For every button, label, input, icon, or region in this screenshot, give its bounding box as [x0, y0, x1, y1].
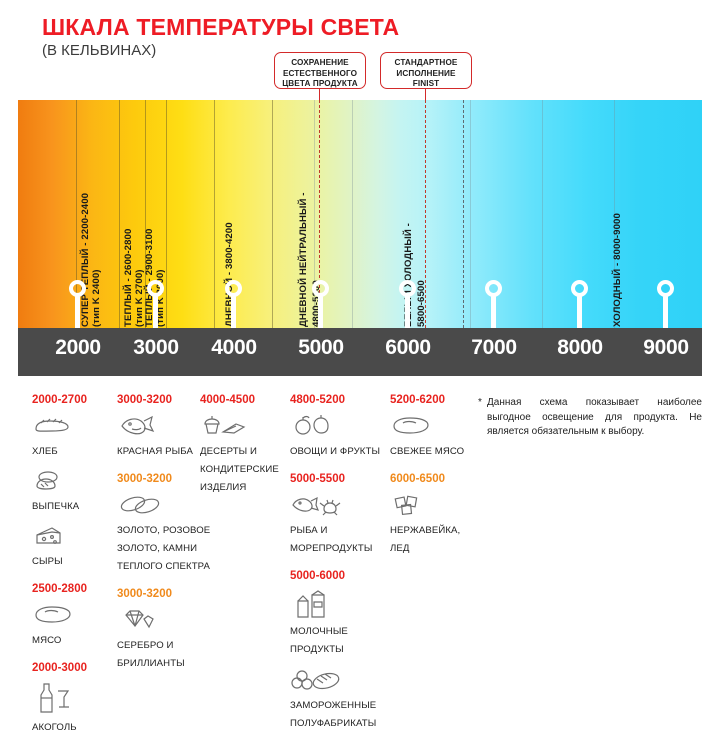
meat-icon	[32, 602, 114, 628]
scale-tick-7000: 7000	[459, 336, 529, 360]
legend-group: 6000-6500 НЕРЖАВЕЙКА, ЛЕД	[390, 471, 470, 556]
vegetables-fruits-icon	[290, 413, 385, 439]
scale-tick-6000: 6000	[373, 336, 443, 360]
scale-tick-3000: 3000	[121, 336, 191, 360]
pin-stem-9000	[663, 296, 668, 330]
pin-stem-5000	[318, 296, 323, 330]
legend-range-label: 2000-3000	[32, 660, 114, 676]
legend-item: НЕРЖАВЕЙКА, ЛЕД	[390, 492, 470, 556]
pin-stem-8000	[577, 296, 582, 330]
legend-item-label: ЗАМОРОЖЕННЫЕ ПОЛУФАБРИКАТЫ	[290, 700, 376, 729]
footnote: * Данная схема показывает наиболее выгод…	[487, 396, 702, 440]
pin-stem-2000	[75, 296, 80, 330]
kelvin-scale-bar: 2000 3000 4000 5000 6000 7000 8000 9000	[18, 328, 702, 376]
callout-line: ИСПОЛНЕНИЕ	[387, 69, 465, 80]
pin-head-3000[interactable]	[147, 280, 164, 297]
band-label-warm-2700: ТЕПЛЫЙ - 2600-2800	[123, 229, 134, 327]
dessert-icon	[200, 413, 292, 439]
legend-column-3: 4000-4500 ДЕСЕРТЫ И КОНДИТЕРСКИЕ ИЗДЕЛИЯ	[200, 392, 292, 504]
legend-range-label: 6000-6500	[390, 471, 470, 487]
legend-group: 5000-5500 РЫБА И МОРЕПРОДУКТЫ	[290, 471, 385, 556]
gold-rings-icon	[117, 492, 212, 518]
legend-group: 3000-3200 СЕРЕБРО И БРИЛЛИАНТЫ	[117, 586, 212, 671]
legend-item-label: АКОГОЛЬ	[32, 722, 77, 733]
legend-item: ХЛЕБ	[32, 413, 114, 459]
pin-stem-4000	[231, 296, 236, 330]
legend-group: 3000-3200 КРАСНАЯ РЫБА	[117, 392, 212, 459]
legend-column-2: 3000-3200 КРАСНАЯ РЫБА 3000-3200	[117, 392, 212, 680]
band-label-cold: ХОЛОДНЫЙ - 8000-9000	[612, 213, 623, 327]
callout-natural-color: СОХРАНЕНИЕ ЕСТЕСТВЕННОГО ЦВЕТА ПРОДУКТА	[274, 52, 366, 89]
legend-item-label: ДЕСЕРТЫ И КОНДИТЕРСКИЕ ИЗДЕЛИЯ	[200, 446, 279, 493]
legend-item-label: ХЛЕБ	[32, 446, 58, 457]
legend-group: 4000-4500 ДЕСЕРТЫ И КОНДИТЕРСКИЕ ИЗДЕЛИЯ	[200, 392, 292, 495]
pin-head-8000[interactable]	[571, 280, 588, 297]
pin-head-2000[interactable]	[69, 280, 86, 297]
legend-item-label: ОВОЩИ И ФРУКТЫ	[290, 446, 380, 457]
legend-range-label: 2000-2700	[32, 392, 114, 408]
legend-range-label: 5000-5500	[290, 471, 385, 487]
legend-item-label: КРАСНАЯ РЫБА	[117, 446, 193, 457]
band-label-neutral: ДНЕВНОЙ НЕЙТРАЛЬНЫЙ -	[298, 192, 309, 327]
legend-range-label: 5200-6200	[390, 392, 470, 408]
band-label-super-warm: СУПЕР ТЕПЛЫЙ - 2200-2400	[80, 193, 91, 327]
spectrum-gradient	[18, 100, 702, 328]
legend-item: СЕРЕБРО И БРИЛЛИАНТЫ	[117, 607, 212, 671]
scale-tick-2000: 2000	[43, 336, 113, 360]
band-sublabel-super-warm: (тип K 2400)	[91, 269, 102, 327]
legend-item: СЫРЫ	[32, 523, 114, 569]
callout-line: ЦВЕТА ПРОДУКТА	[281, 79, 359, 90]
bread-icon	[32, 413, 114, 439]
legend-column-5: 5200-6200 СВЕЖЕЕ МЯСО 6000-6500 Н	[390, 392, 470, 565]
legend-item-label: СЕРЕБРО И БРИЛЛИАНТЫ	[117, 640, 185, 669]
legend-item-label: МЯСО	[32, 635, 62, 646]
legend-group: 4800-5200 ОВОЩИ И ФРУКТЫ	[290, 392, 385, 459]
band-separator	[470, 100, 471, 328]
callout-line: СТАНДАРТНОЕ	[387, 58, 465, 69]
legend-range-label: 5000-6000	[290, 568, 385, 584]
legend-item-label: СЫРЫ	[32, 556, 63, 567]
frozen-food-icon	[290, 667, 385, 693]
band-separator	[352, 100, 353, 328]
diamond-icon	[117, 607, 212, 633]
legend-group: 5200-6200 СВЕЖЕЕ МЯСО	[390, 392, 470, 459]
pin-stem-7000	[491, 296, 496, 330]
legend-group: 2000-3000 АКОГОЛЬ	[32, 660, 114, 735]
legend-column-4: 4800-5200 ОВОЩИ И ФРУКТЫ 5000-5500	[290, 392, 385, 740]
legend-item: ЗАМОРОЖЕННЫЕ ПОЛУФАБРИКАТЫ	[290, 667, 385, 731]
red-fish-icon	[117, 413, 212, 439]
dairy-icon	[290, 589, 385, 619]
dashed-marker-gray	[463, 100, 464, 328]
legend-item: МЯСО	[32, 602, 114, 648]
band-separator	[272, 100, 273, 328]
legend-item: АКОГОЛЬ	[32, 681, 114, 735]
cheese-icon	[32, 523, 114, 549]
pin-head-7000[interactable]	[485, 280, 502, 297]
legend-item: КРАСНАЯ РЫБА	[117, 413, 212, 459]
legend-item: РЫБА И МОРЕПРОДУКТЫ	[290, 492, 385, 556]
callout-line: СОХРАНЕНИЕ	[281, 58, 359, 69]
legend-item: МОЛОЧНЫЕ ПРОДУКТЫ	[290, 589, 385, 657]
legend-item: ВЫПЕЧКА	[32, 468, 114, 514]
legend-range-label: 4800-5200	[290, 392, 385, 408]
pin-stem-6000	[405, 296, 410, 330]
fresh-meat-icon	[390, 413, 470, 439]
scale-tick-4000: 4000	[199, 336, 269, 360]
band-separator	[214, 100, 215, 328]
scale-tick-8000: 8000	[545, 336, 615, 360]
band-separator	[119, 100, 120, 328]
legend-range-label: 2500-2800	[32, 581, 114, 597]
callout-line: FINIST	[387, 79, 465, 90]
footnote-text: Данная схема показывает наиболее выгодно…	[487, 396, 702, 440]
legend-item-label: РЫБА И МОРЕПРОДУКТЫ	[290, 525, 372, 554]
pastry-icon	[32, 468, 114, 494]
legend-item-label: СВЕЖЕЕ МЯСО	[390, 446, 464, 457]
legend-item-label: ВЫПЕЧКА	[32, 501, 79, 512]
footnote-marker: *	[478, 396, 482, 411]
pin-head-5000[interactable]	[312, 280, 329, 297]
band-separator	[542, 100, 543, 328]
legend-item: СВЕЖЕЕ МЯСО	[390, 413, 470, 459]
pin-head-6000[interactable]	[399, 280, 416, 297]
legend-item: ЗОЛОТО, РОЗОВОЕ ЗОЛОТО, КАМНИ ТЕПЛОГО СП…	[117, 492, 212, 574]
fish-seafood-icon	[290, 492, 385, 518]
pin-head-9000[interactable]	[657, 280, 674, 297]
legend-item-label: НЕРЖАВЕЙКА, ЛЕД	[390, 525, 460, 554]
legend-range-label: 3000-3200	[117, 586, 212, 602]
scale-tick-5000: 5000	[286, 336, 356, 360]
legend-item: ДЕСЕРТЫ И КОНДИТЕРСКИЕ ИЗДЕЛИЯ	[200, 413, 292, 495]
light-temperature-spectrum: СУПЕР ТЕПЛЫЙ - 2200-2400 (тип K 2400) ТЕ…	[18, 100, 702, 328]
legend-group: 2000-2700 ХЛЕБ ВЫПЕЧКА	[32, 392, 114, 569]
legend-group: 3000-3200 ЗОЛОТО, РОЗОВОЕ ЗОЛОТО, КАМНИ …	[117, 471, 212, 574]
legend-group: 2500-2800 МЯСО	[32, 581, 114, 648]
band-separator	[166, 100, 167, 328]
callout-line: ЕСТЕСТВЕННОГО	[281, 69, 359, 80]
legend-range-label: 4000-4500	[200, 392, 292, 408]
steel-ice-icon	[390, 492, 470, 518]
legend-item-label: МОЛОЧНЫЕ ПРОДУКТЫ	[290, 626, 348, 655]
scale-tick-9000: 9000	[631, 336, 701, 360]
legend-group: 5000-6000 МОЛОЧНЫЕ ПРОДУКТЫ ЗАМОРОЖЕННЫЕ…	[290, 568, 385, 731]
page-title: ШКАЛА ТЕМПЕРАТУРЫ СВЕТА	[42, 14, 399, 40]
pin-stem-3000	[153, 296, 158, 330]
legend-range-label: 3000-3200	[117, 471, 212, 487]
callout-finist-standard: СТАНДАРТНОЕ ИСПОЛНЕНИЕ FINIST	[380, 52, 472, 89]
legend-range-label: 3000-3200	[117, 392, 212, 408]
legend-item-label: ЗОЛОТО, РОЗОВОЕ ЗОЛОТО, КАМНИ ТЕПЛОГО СП…	[117, 525, 210, 572]
pin-head-4000[interactable]	[225, 280, 242, 297]
band-sublabel-cool-white: 5800-6500	[416, 280, 427, 327]
alcohol-icon	[32, 681, 114, 715]
legend-item: ОВОЩИ И ФРУКТЫ	[290, 413, 385, 459]
legend-column-1: 2000-2700 ХЛЕБ ВЫПЕЧКА	[32, 392, 114, 744]
